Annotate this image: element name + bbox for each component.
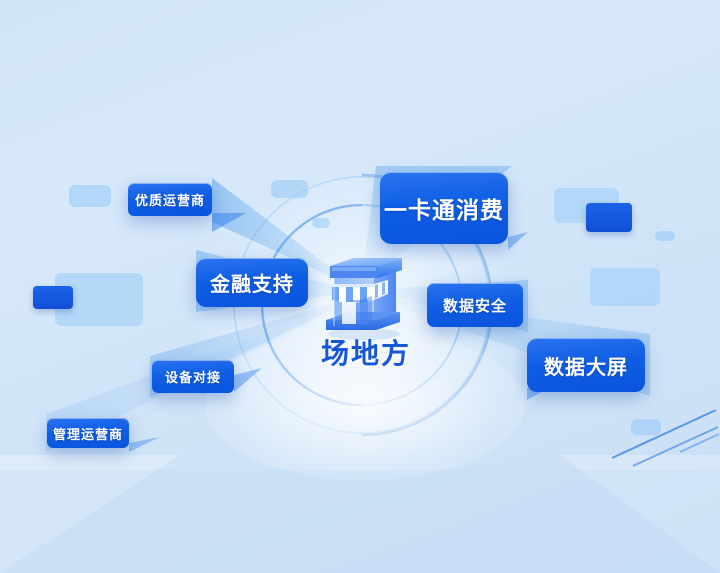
card-shuju-anquan[interactable]: 数据安全 <box>427 283 523 327</box>
card-label: 设备对接 <box>165 367 221 386</box>
card-shebei-duijie[interactable]: 设备对接 <box>152 360 234 393</box>
deco-rect-r5 <box>631 419 661 435</box>
card-label: 金融支持 <box>210 268 294 297</box>
card-label: 一卡通消费 <box>384 191 504 225</box>
card-label: 管理运营商 <box>53 424 123 443</box>
card-label: 数据安全 <box>443 295 507 316</box>
card-jinrong-zhichi[interactable]: 金融支持 <box>196 258 308 307</box>
deco-rect-r3 <box>655 231 675 241</box>
deco-rect-r4 <box>590 268 660 306</box>
card-guanli-yunyingshang[interactable]: 管理运营商 <box>47 418 129 448</box>
card-shuju-daping[interactable]: 数据大屏 <box>527 338 645 392</box>
card-label: 优质运营商 <box>135 190 205 209</box>
deco-rect-l3 <box>33 286 73 309</box>
card-youzhi-yunyingshang[interactable]: 优质运营商 <box>128 183 212 216</box>
card-yikatong-xiaofei[interactable]: 一卡通消费 <box>380 172 508 244</box>
card-label: 数据大屏 <box>544 351 628 380</box>
deco-rect-r2 <box>586 203 632 232</box>
deco-rect-c1 <box>271 180 308 198</box>
infographic-canvas: 一卡通消费 金融支持 数据安全 数据大屏 优质运营商 设备对接 管理运营商 <box>0 0 720 573</box>
shop-storefront-icon <box>312 240 416 340</box>
center-title: 场地方 <box>306 332 426 372</box>
deco-rect-c2 <box>312 218 330 228</box>
deco-rect-l1 <box>69 185 111 207</box>
